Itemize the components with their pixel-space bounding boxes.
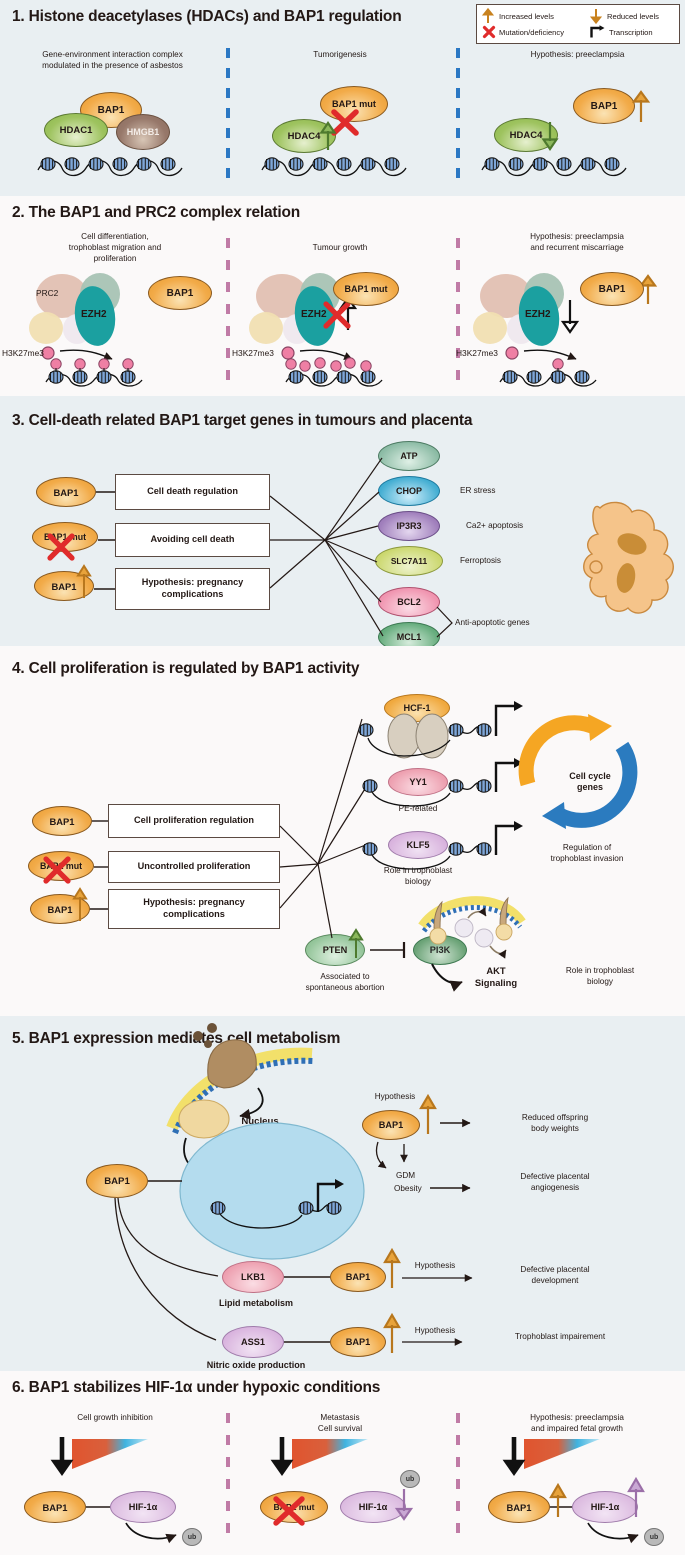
panel-4-input-2-box-line2: complications xyxy=(163,909,225,921)
legend-row-1: Increased levels Reduced levels xyxy=(482,8,674,24)
panel-1-divider-2 xyxy=(456,48,460,183)
panel-3-connectors xyxy=(0,396,685,646)
panel-1-col-1-caption-line1: Gene-environment interaction complex xyxy=(10,50,215,60)
panel-3-input-2-box: Hypothesis: pregnancy complications xyxy=(115,568,270,610)
panel-5-gluconeogenesis-label: Gluconeogenesis xyxy=(215,1234,325,1246)
panel-3-target-4: BCL2 xyxy=(378,587,440,617)
panel-5-row-0-hypothesis: Hypothesis xyxy=(400,1261,470,1271)
panel-5-outcome-top-line2: body weights xyxy=(480,1124,630,1134)
panel-2-col-1-caption-line3: proliferation xyxy=(20,254,210,264)
panel-2-col-1-caption-line2: trophoblast migration and xyxy=(20,243,210,253)
panel-2-label-prc2: PRC2 xyxy=(36,288,58,299)
panel-4-input-1-box-label: Uncontrolled proliferation xyxy=(138,861,251,873)
panel-2-title: 2. The BAP1 and PRC2 complex relation xyxy=(12,204,300,222)
panel-6-divider-2 xyxy=(456,1413,460,1543)
panel-2-divider-1 xyxy=(226,238,230,388)
panel-4-annotation-klf5-line1: Role in trophoblast xyxy=(368,866,468,876)
panel-6-col-2-ub: ub xyxy=(400,1470,420,1488)
panel-2-col-3-caption-line2: and recurrent miscarriage xyxy=(478,243,676,253)
panel-2-divider-2 xyxy=(456,238,460,388)
panel-4-trophoblast-line2: biology xyxy=(535,977,665,987)
panel-2-node-bap1-mut: BAP1 mut xyxy=(333,272,399,306)
panel-3-input-1-node: BAP1 mut xyxy=(32,522,98,552)
legend-item-reduced: Reduced levels xyxy=(590,8,659,24)
panel-4-node-pi3k: PI3K xyxy=(413,935,467,965)
panel-6-graphics xyxy=(0,1371,685,1555)
panel-4-node-pten: PTEN xyxy=(305,934,365,966)
panel-6-col-3-ub: ub xyxy=(644,1528,664,1546)
panel-1-divider-1 xyxy=(226,48,230,183)
panel-3-input-2-node: BAP1 xyxy=(34,571,94,601)
panel-4-annotation-pe-related: PE-related xyxy=(378,804,458,814)
panel-5-gdm-line2: Obesity xyxy=(394,1184,422,1194)
panel-5-row-0-bap1: BAP1 xyxy=(330,1262,386,1292)
up-arrow-orange xyxy=(634,92,648,122)
panel-1-node-hdac4-down: HDAC4 xyxy=(494,118,558,152)
panel-2-node-bap1: BAP1 xyxy=(148,276,212,310)
panel-4-title: 4. Cell proliferation is regulated by BA… xyxy=(12,660,359,678)
panel-3-target-1: CHOP xyxy=(378,476,440,506)
o2-gradient-1 xyxy=(55,1437,148,1472)
panel-4-input-2-box: Hypothesis: pregnancy complications xyxy=(108,889,280,929)
panel-3-annotation-slc7a11: Ferroptosis xyxy=(460,556,501,566)
panel-5-row-0-outcome-line1: Defective placental xyxy=(480,1265,630,1275)
panel-1-node-bap1-mut: BAP1 mut xyxy=(320,86,388,122)
prc2-blob-c xyxy=(29,312,63,344)
legend-label-mutation: Mutation/deficiency xyxy=(499,28,564,37)
panel-3-input-2-box-line2: complications xyxy=(162,589,224,601)
legend-label-reduced: Reduced levels xyxy=(607,12,659,21)
panel-5-row-1-bap1: BAP1 xyxy=(330,1327,386,1357)
panel-3: 3. Cell-death related BAP1 target genes … xyxy=(0,396,685,646)
up-arrow-orange xyxy=(385,1315,399,1353)
panel-5-outcome-mid-line2: angiogenesis xyxy=(480,1183,630,1193)
down-arrow-black xyxy=(563,300,577,332)
panel-4-annotation-klf5-line2: biology xyxy=(368,877,468,887)
panel-6-col-3-caption-line2: and impaired fetal growth xyxy=(478,1424,676,1434)
panel-1-col-2-caption: Tumorigenesis xyxy=(250,50,430,60)
panel-4-target-hcf1: HCF-1 xyxy=(384,694,450,722)
panel-3-annotation-ip3r3: Ca2+ apoptosis xyxy=(466,521,523,531)
panel-6-col-3-hif1a: HIF-1α xyxy=(572,1491,638,1523)
transcription-arrow-icon xyxy=(590,25,606,39)
panel-5-node-ogt: OGT xyxy=(214,1144,264,1178)
panel-3-input-1-box: Avoiding cell death xyxy=(115,523,270,557)
panel-2-col-2-caption-line1: Tumour growth xyxy=(250,243,430,253)
legend-box: Increased levels Reduced levels Mutation… xyxy=(476,4,680,44)
panel-4-pten-annotation-line2: spontaneous abortion xyxy=(290,983,400,993)
panel-6-col-2-hif1a: HIF-1α xyxy=(340,1491,406,1523)
panel-5-node-bap1-left: BAP1 xyxy=(86,1164,148,1198)
panel-6: 6. BAP1 stabilizes HIF-1α under hypoxic … xyxy=(0,1371,685,1555)
panel-5-gdm-line1: GDM xyxy=(396,1171,415,1181)
panel-4-input-0-box: Cell proliferation regulation xyxy=(108,804,280,838)
figure-root: 1. Histone deacetylases (HDACs) and BAP1… xyxy=(0,0,685,1555)
panel-6-col-2-o2-label: O2 xyxy=(298,1445,310,1456)
panel-4-input-2-node: BAP1 xyxy=(30,894,90,924)
panel-6-col-1-hif1a: HIF-1α xyxy=(110,1491,176,1523)
panel-5-row-1-hypothesis: Hypothesis xyxy=(400,1326,470,1336)
panel-4: 4. Cell proliferation is regulated by BA… xyxy=(0,646,685,1016)
panel-2-label-ezh2-down: EZH2 xyxy=(525,309,551,322)
panel-5-row-1-sublabel: Nitric oxide production xyxy=(186,1360,326,1371)
panel-4-input-1-box: Uncontrolled proliferation xyxy=(108,851,280,883)
panel-3-target-2: IP3R3 xyxy=(378,511,440,541)
panel-6-col-1-ub: ub xyxy=(182,1528,202,1546)
up-arrow-orange xyxy=(385,1250,399,1288)
panel-1-node-bap1-up: BAP1 xyxy=(573,88,635,124)
panel-3-target-0: ATP xyxy=(378,441,440,471)
panel-6-col-3-caption-line1: Hypothesis: preeclampsia xyxy=(478,1413,676,1423)
panel-5-row-0-gene: LKB1 xyxy=(222,1261,284,1293)
panel-4-target-klf5: KLF5 xyxy=(388,831,448,859)
panel-2-col-1-caption-line1: Cell differentiation, xyxy=(20,232,210,242)
panel-1-node-hdac1: HDAC1 xyxy=(44,113,108,147)
panel-6-divider-1 xyxy=(226,1413,230,1543)
legend-label-transcription: Transcription xyxy=(609,28,653,37)
panel-5-row-0-sublabel: Lipid metabolism xyxy=(196,1298,316,1309)
up-arrow-orange xyxy=(551,1485,565,1517)
panel-5-node-bap1-top: BAP1 xyxy=(362,1110,420,1140)
panel-1-col-1-caption-line2: modulated in the presence of asbestos xyxy=(10,61,215,71)
panel-6-col-1-bap1: BAP1 xyxy=(24,1491,86,1523)
panel-5-node-pgc1a: PGC1α xyxy=(240,1178,298,1214)
panel-5-hypothesis-label: Hypothesis xyxy=(355,1092,435,1102)
panel-3-input-1-box-label: Avoiding cell death xyxy=(151,534,235,546)
legend-row-2: Mutation/deficiency Transcription xyxy=(482,24,674,40)
panel-4-pten-annotation-line1: Associated to xyxy=(290,972,400,982)
panel-2-col-3-caption-line1: Hypothesis: preeclampsia xyxy=(478,232,676,242)
panel-6-col-2-bap1-mut: BAP1 mut xyxy=(260,1491,328,1523)
panel-3-input-0-node: BAP1 xyxy=(36,477,96,507)
panel-4-target-yy1: YY1 xyxy=(388,768,448,796)
panel-1-title: 1. Histone deacetylases (HDACs) and BAP1… xyxy=(12,8,401,26)
panel-4-regulation-label-line1: Regulation of xyxy=(512,843,662,853)
legend-item-mutation: Mutation/deficiency xyxy=(482,25,590,39)
legend-item-increased: Increased levels xyxy=(482,8,590,24)
panel-6-col-1-caption-line1: Cell growth inhibition xyxy=(20,1413,210,1423)
panel-4-input-0-box-label: Cell proliferation regulation xyxy=(134,815,254,827)
panel-6-col-1-o2-label: O2 xyxy=(78,1445,90,1456)
panel-5-row-0-outcome-line2: development xyxy=(480,1276,630,1286)
panel-6-col-2-caption-line2: Cell survival xyxy=(250,1424,430,1434)
panel-1-node-hdac4-up: HDAC4 xyxy=(272,119,336,153)
panel-5: 5. BAP1 expression mediates cell metabol… xyxy=(0,1016,685,1371)
panel-2: 2. The BAP1 and PRC2 complex relation Ce… xyxy=(0,196,685,396)
o2-gradient-2 xyxy=(275,1437,368,1472)
panel-3-annotation-chop: ER stress xyxy=(460,486,496,496)
panel-3-input-2-box-line1: Hypothesis: pregnancy xyxy=(142,577,244,589)
panel-6-col-3-bap1: BAP1 xyxy=(488,1491,550,1523)
panel-1: 1. Histone deacetylases (HDACs) and BAP1… xyxy=(0,0,685,196)
panel-6-col-2-caption-line1: Metastasis xyxy=(250,1413,430,1423)
panel-3-title: 3. Cell-death related BAP1 target genes … xyxy=(12,412,472,430)
panel-4-akt-line1: AKT xyxy=(466,965,526,977)
panel-4-cellcycle-label-line2: genes xyxy=(545,782,635,793)
up-arrow-icon xyxy=(482,8,496,24)
panel-5-nucleus-label: Nucleus xyxy=(215,1116,305,1128)
panel-4-input-2-box-line1: Hypothesis: pregnancy xyxy=(143,897,245,909)
panel-4-cellcycle-label-line1: Cell cycle xyxy=(545,771,635,782)
panel-2-label-ezh2-up: EZH2 xyxy=(301,309,327,322)
o2-gradient-3 xyxy=(507,1437,600,1472)
panel-3-input-0-box: Cell death regulation xyxy=(115,474,270,510)
panel-4-trophoblast-line1: Role in trophoblast xyxy=(535,966,665,976)
panel-5-row-1-gene: ASS1 xyxy=(222,1326,284,1358)
red-cross-icon xyxy=(326,304,348,326)
panel-2-label-h3k27me3-2: H3K27me3 xyxy=(232,348,274,359)
panel-5-row-1-outcome-line1: Trophoblast impairement xyxy=(470,1332,650,1342)
panel-5-node-hcf1: HCF-1 xyxy=(268,1146,326,1176)
panel-1-node-hmgb1: HMGB1 xyxy=(116,114,170,150)
legend-item-transcription: Transcription xyxy=(590,25,653,39)
panel-6-col-3-o2-label: O2 xyxy=(530,1445,542,1456)
down-arrow-icon xyxy=(590,8,604,24)
panel-2-label-h3k27me3-3: H3K27me3 xyxy=(456,348,498,359)
placenta-illustration xyxy=(584,502,674,613)
panel-2-label-h3k27me3: H3K27me3 xyxy=(2,348,44,359)
panel-6-title: 6. BAP1 stabilizes HIF-1α under hypoxic … xyxy=(12,1379,380,1397)
panel-5-title: 5. BAP1 expression mediates cell metabol… xyxy=(12,1030,340,1048)
panel-3-annotation-antiapoptotic: Anti-apoptotic genes xyxy=(455,618,530,628)
panel-3-target-3: SLC7A11 xyxy=(375,546,443,576)
panel-2-label-ezh2: EZH2 xyxy=(81,309,107,322)
panel-1-col-3-caption: Hypothesis: preeclampsia xyxy=(480,50,675,60)
legend-label-increased: Increased levels xyxy=(499,12,554,21)
panel-4-input-1-node: BAP1 mut xyxy=(28,851,94,881)
panel-5-outcome-top-line1: Reduced offspring xyxy=(480,1113,630,1123)
panel-3-input-0-box-label: Cell death regulation xyxy=(147,486,238,498)
panel-4-akt-line2: Signaling xyxy=(466,977,526,989)
panel-4-regulation-label-line2: trophoblast invasion xyxy=(512,854,662,864)
panel-2-node-bap1-up: BAP1 xyxy=(580,272,644,306)
red-cross-icon xyxy=(482,25,496,39)
panel-5-outcome-mid-line1: Defective placental xyxy=(480,1172,630,1182)
panel-4-input-0-node: BAP1 xyxy=(32,806,92,836)
